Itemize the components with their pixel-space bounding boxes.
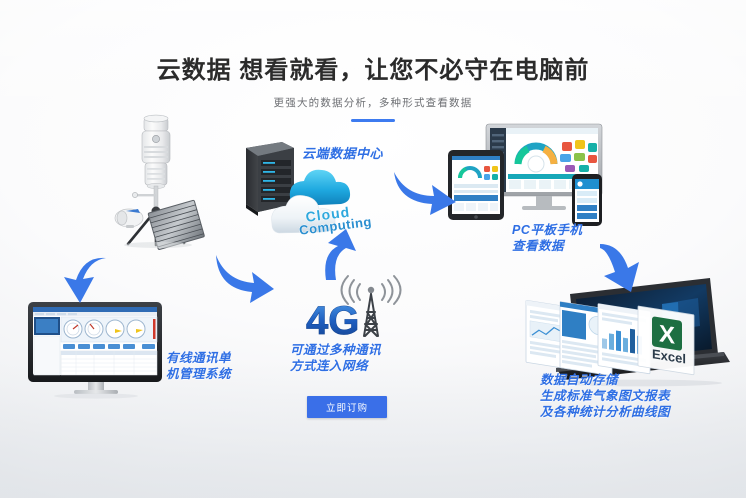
title-divider — [351, 119, 395, 122]
header: 云数据 想看就看，让您不必守在电脑前 更强大的数据分析，多种形式查看数据 — [0, 56, 746, 122]
weather-station-graphic — [104, 112, 214, 247]
caption-auto-storage: 数据自动存储 生成标准气象图文报表 及各种统计分析曲线图 — [540, 372, 670, 420]
page-title: 云数据 想看就看，让您不必守在电脑前 — [0, 56, 746, 86]
caption-wired-standalone: 有线通讯单 机管理系统 — [166, 350, 231, 382]
arrow-devices-to-laptop — [596, 240, 656, 296]
caption-network-access: 可通过多种通讯 方式连入网络 — [290, 342, 381, 374]
sensor-pod — [115, 209, 143, 228]
dashboard-phone — [572, 174, 602, 226]
desktop-monitor-graphic — [26, 300, 168, 400]
order-now-button[interactable]: 立即订购 — [307, 396, 387, 418]
mobile-network-graphic: 4G — [304, 282, 408, 340]
arrow-cloud-to-devices — [392, 158, 460, 208]
floating-report-windows: X Excel — [526, 300, 694, 376]
caption-pc-tablet-phone: PC平板手机 查看数据 — [512, 222, 582, 254]
four-g-label: 4G — [306, 299, 359, 343]
caption-cloud-data-center: 云端数据中心 — [302, 146, 383, 162]
excel-badge-letter: X — [659, 320, 675, 349]
arrow-pc-to-network — [212, 245, 280, 295]
signal-tower — [364, 294, 378, 336]
device-cluster-graphic — [446, 122, 618, 226]
promo-banner: 云数据 想看就看，让您不必守在电脑前 更强大的数据分析，多种形式查看数据 — [0, 0, 746, 498]
arrow-network-to-cloud — [316, 228, 360, 282]
page-subtitle: 更强大的数据分析，多种形式查看数据 — [0, 95, 746, 110]
radiation-shield — [142, 115, 170, 189]
arrow-station-to-pc — [58, 252, 118, 308]
